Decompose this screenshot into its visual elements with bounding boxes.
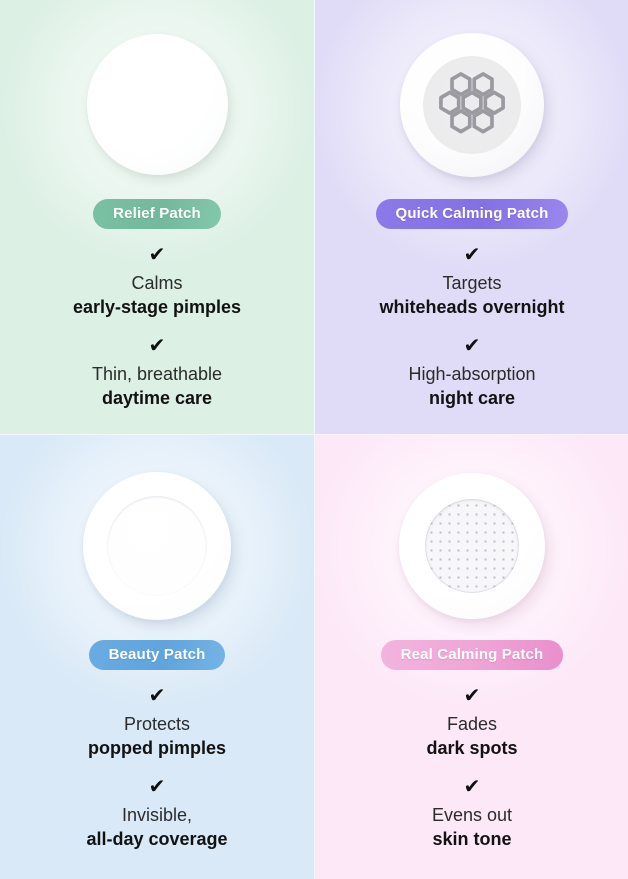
quadrant-relief-patch: Relief Patch ✔ Calms early-stage pimples… bbox=[0, 0, 314, 434]
benefit-line-primary: Targets bbox=[442, 272, 501, 295]
benefit-list-quick-calming: ✔ Targets whiteheads overnight ✔ High-ab… bbox=[315, 245, 628, 410]
benefit-item: ✔ Fades dark spots bbox=[426, 686, 517, 760]
benefit-line-primary: Fades bbox=[447, 713, 497, 736]
benefit-line-primary: Protects bbox=[124, 713, 190, 736]
honeycomb-patch-icon bbox=[400, 33, 544, 177]
benefit-list-beauty: ✔ Protects popped pimples ✔ Invisible, a… bbox=[0, 686, 314, 851]
benefit-item: ✔ Targets whiteheads overnight bbox=[379, 245, 564, 319]
benefit-line-secondary: popped pimples bbox=[88, 737, 226, 760]
honeycomb-inner-disc bbox=[423, 56, 521, 154]
benefit-item: ✔ Invisible, all-day coverage bbox=[86, 777, 227, 851]
honeycomb-hexagons-icon bbox=[435, 68, 509, 142]
benefit-line-secondary: dark spots bbox=[426, 737, 517, 760]
badge-real-calming-patch[interactable]: Real Calming Patch bbox=[381, 640, 564, 670]
badge-beauty-patch[interactable]: Beauty Patch bbox=[89, 640, 226, 670]
check-icon: ✔ bbox=[464, 686, 481, 706]
benefit-item: ✔ High-absorption night care bbox=[408, 336, 535, 410]
benefit-item: ✔ Protects popped pimples bbox=[88, 686, 226, 760]
plain-round-patch-icon bbox=[87, 34, 228, 175]
benefit-item: ✔ Thin, breathable daytime care bbox=[92, 336, 222, 410]
patch-image-wrap-real-calming bbox=[399, 453, 545, 638]
benefit-line-primary: Invisible, bbox=[122, 804, 192, 827]
benefit-line-secondary: all-day coverage bbox=[86, 828, 227, 851]
check-icon: ✔ bbox=[464, 336, 481, 356]
check-icon: ✔ bbox=[464, 777, 481, 797]
patch-inner-ring bbox=[107, 496, 207, 596]
check-icon: ✔ bbox=[149, 777, 166, 797]
benefit-line-primary: Thin, breathable bbox=[92, 363, 222, 386]
patch-comparison-grid: Relief Patch ✔ Calms early-stage pimples… bbox=[0, 0, 628, 879]
check-icon: ✔ bbox=[464, 245, 481, 265]
benefit-list-relief: ✔ Calms early-stage pimples ✔ Thin, brea… bbox=[0, 245, 314, 410]
check-icon: ✔ bbox=[149, 245, 166, 265]
benefit-line-primary: Evens out bbox=[432, 804, 512, 827]
microneedle-dotted-patch-icon bbox=[399, 473, 545, 619]
benefit-list-real-calming: ✔ Fades dark spots ✔ Evens out skin tone bbox=[315, 686, 628, 851]
patch-image-wrap-relief bbox=[87, 12, 228, 197]
benefit-line-secondary: early-stage pimples bbox=[73, 296, 241, 319]
quadrant-real-calming-patch: Real Calming Patch ✔ Fades dark spots ✔ … bbox=[315, 435, 628, 879]
badge-quick-calming-patch[interactable]: Quick Calming Patch bbox=[376, 199, 569, 229]
ringed-round-patch-icon bbox=[83, 472, 231, 620]
benefit-item: ✔ Calms early-stage pimples bbox=[73, 245, 241, 319]
patch-image-wrap-quick-calming bbox=[400, 12, 544, 197]
benefit-item: ✔ Evens out skin tone bbox=[432, 777, 512, 851]
benefit-line-primary: Calms bbox=[131, 272, 182, 295]
quadrant-beauty-patch: Beauty Patch ✔ Protects popped pimples ✔… bbox=[0, 435, 314, 879]
benefit-line-secondary: daytime care bbox=[102, 387, 212, 410]
quadrant-quick-calming-patch: Quick Calming Patch ✔ Targets whiteheads… bbox=[315, 0, 628, 434]
benefit-line-secondary: whiteheads overnight bbox=[379, 296, 564, 319]
badge-relief-patch[interactable]: Relief Patch bbox=[93, 199, 221, 229]
check-icon: ✔ bbox=[149, 686, 166, 706]
benefit-line-primary: High-absorption bbox=[408, 363, 535, 386]
patch-image-wrap-beauty bbox=[83, 453, 231, 638]
microneedle-dot-grid bbox=[425, 499, 519, 593]
check-icon: ✔ bbox=[149, 336, 166, 356]
benefit-line-secondary: skin tone bbox=[432, 828, 511, 851]
benefit-line-secondary: night care bbox=[429, 387, 515, 410]
